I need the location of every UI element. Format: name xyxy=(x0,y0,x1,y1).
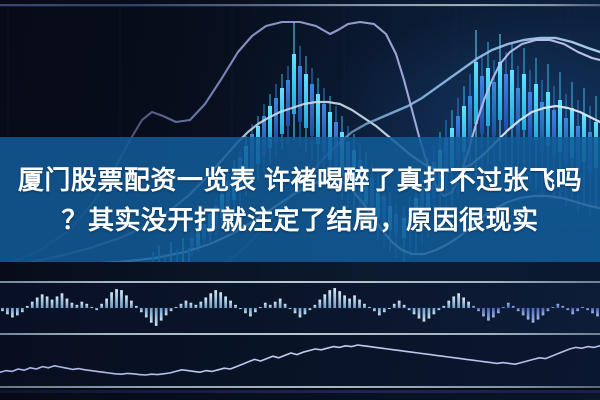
macd-bar xyxy=(447,301,450,308)
bottom-divider-line xyxy=(0,386,600,388)
macd-bar xyxy=(413,308,416,314)
macd-bar xyxy=(378,308,381,315)
macd-bar xyxy=(358,300,361,308)
macd-bar xyxy=(338,291,341,308)
title-line-1: 厦门股票配资一览表 许褚喝醉了真打不过张飞吗 xyxy=(18,160,582,200)
macd-bar xyxy=(556,304,559,308)
macd-bar xyxy=(229,301,232,308)
macd-bar xyxy=(85,304,88,308)
macd-bar xyxy=(383,308,386,312)
macd-bar xyxy=(314,305,317,308)
macd-bar xyxy=(11,308,14,317)
macd-bar xyxy=(190,303,193,308)
macd-histogram-svg xyxy=(0,283,600,333)
macd-bar xyxy=(294,308,297,313)
macd-bar xyxy=(423,308,426,322)
macd-bar xyxy=(502,307,505,308)
macd-bar xyxy=(21,308,24,312)
trend-line-panel xyxy=(0,335,600,387)
macd-bar xyxy=(433,308,436,314)
macd-bar xyxy=(259,307,262,308)
macd-bar xyxy=(31,302,34,308)
macd-bar xyxy=(353,295,356,308)
macd-bar xyxy=(204,298,207,309)
macd-bar xyxy=(110,292,113,308)
macd-bar xyxy=(452,296,455,308)
macd-bar xyxy=(507,303,510,308)
macd-bar xyxy=(120,290,123,308)
macd-bar xyxy=(1,308,4,311)
macd-bar xyxy=(487,308,490,321)
trend-line-path xyxy=(0,345,600,375)
macd-bar xyxy=(90,307,93,308)
macd-bar xyxy=(105,299,108,308)
macd-bar xyxy=(284,304,287,308)
macd-bar xyxy=(428,308,431,319)
macd-bar xyxy=(517,308,520,311)
macd-bar xyxy=(388,308,391,309)
macd-bar xyxy=(185,301,188,308)
macd-bar xyxy=(522,308,525,315)
macd-bar xyxy=(547,308,550,311)
macd-bar xyxy=(209,293,212,308)
macd-bar xyxy=(462,298,465,309)
macd-bar xyxy=(56,296,59,308)
macd-bar xyxy=(150,308,153,323)
macd-bar xyxy=(165,308,168,315)
macd-bar xyxy=(279,299,282,308)
macd-bar xyxy=(224,296,227,308)
macd-bar xyxy=(180,304,183,308)
macd-bar xyxy=(219,292,222,308)
macd-bar xyxy=(51,300,54,308)
macd-bar xyxy=(16,308,19,315)
macd-bar xyxy=(363,304,366,308)
macd-bar xyxy=(36,298,39,309)
macd-bar xyxy=(304,308,307,314)
macd-bar xyxy=(398,301,401,308)
macd-bar xyxy=(289,308,292,309)
macd-bar xyxy=(532,308,535,323)
macd-bar xyxy=(318,300,321,308)
macd-bar xyxy=(408,308,411,310)
macd-bar xyxy=(333,288,336,308)
macd-bar xyxy=(542,308,545,315)
macd-bar xyxy=(482,308,485,316)
macd-bar xyxy=(343,295,346,308)
macd-bar-group xyxy=(1,288,599,326)
macd-bar xyxy=(170,308,173,311)
macd-bar xyxy=(566,308,569,310)
macd-bar xyxy=(368,307,371,308)
top-divider-shadow xyxy=(0,6,600,7)
macd-bar xyxy=(527,308,530,320)
macd-bar xyxy=(125,295,128,308)
macd-bar xyxy=(537,308,540,320)
macd-bar xyxy=(552,307,555,308)
macd-bar xyxy=(41,294,44,308)
macd-bar xyxy=(155,308,158,326)
macd-bar xyxy=(581,307,584,308)
macd-bar xyxy=(61,293,64,308)
macd-bar xyxy=(135,306,138,308)
macd-bar xyxy=(160,308,163,321)
macd-bar xyxy=(467,302,470,308)
macd-bar xyxy=(403,305,406,308)
macd-bar xyxy=(596,308,599,316)
macd-bar xyxy=(239,308,242,309)
macd-bar xyxy=(591,308,594,313)
macd-bar xyxy=(586,308,589,310)
bottom-fill xyxy=(0,393,600,400)
macd-bar xyxy=(249,308,252,316)
title-banner: 厦门股票配资一览表 许褚喝醉了真打不过张飞吗 ？其实没开打就注定了结局，原因很现… xyxy=(0,137,600,262)
macd-bar xyxy=(115,289,118,308)
macd-bar xyxy=(328,290,331,308)
macd-bar xyxy=(254,308,257,312)
macd-bar xyxy=(214,290,217,308)
macd-bar xyxy=(309,308,312,310)
macd-bar xyxy=(244,308,247,313)
macd-bar xyxy=(472,306,475,308)
macd-bar xyxy=(477,308,480,311)
macd-bar xyxy=(140,308,143,312)
macd-bar xyxy=(6,308,9,314)
macd-bar xyxy=(299,308,302,317)
macd-bar xyxy=(264,303,267,308)
macd-bar xyxy=(492,308,495,317)
macd-bar xyxy=(457,293,460,308)
macd-bar xyxy=(437,308,440,310)
stock-chart-banner-image: 厦门股票配资一览表 许褚喝醉了真打不过张飞吗 ？其实没开打就注定了结局，原因很现… xyxy=(0,0,600,400)
macd-bar xyxy=(323,294,326,308)
macd-bar xyxy=(571,308,574,314)
macd-histogram-panel xyxy=(0,283,600,333)
title-line-2: ？其实没开打就注定了结局，原因很现实 xyxy=(61,200,538,240)
macd-bar xyxy=(195,305,198,308)
macd-bar xyxy=(130,301,133,308)
macd-bar xyxy=(234,305,237,308)
macd-bar xyxy=(442,306,445,308)
macd-bar xyxy=(66,299,69,308)
macd-bar xyxy=(373,308,376,311)
macd-bar xyxy=(418,308,421,319)
macd-bar xyxy=(348,299,351,308)
macd-bar xyxy=(497,308,500,313)
macd-bar xyxy=(26,306,29,308)
macd-bar xyxy=(512,306,515,308)
macd-bar xyxy=(46,296,49,308)
macd-bar xyxy=(393,304,396,308)
macd-bar xyxy=(71,303,74,308)
macd-bar xyxy=(269,305,272,308)
macd-bar xyxy=(100,304,103,308)
macd-bar xyxy=(80,302,83,308)
macd-bar xyxy=(274,302,277,308)
macd-bar xyxy=(175,307,178,308)
macd-bar xyxy=(145,308,148,317)
macd-bar xyxy=(576,308,579,311)
macd-bar xyxy=(561,306,564,308)
macd-bar xyxy=(76,305,79,308)
macd-bar xyxy=(199,302,202,308)
banner-bottom-gap xyxy=(0,262,600,283)
macd-bar xyxy=(95,308,98,310)
trend-line-svg xyxy=(0,335,600,387)
